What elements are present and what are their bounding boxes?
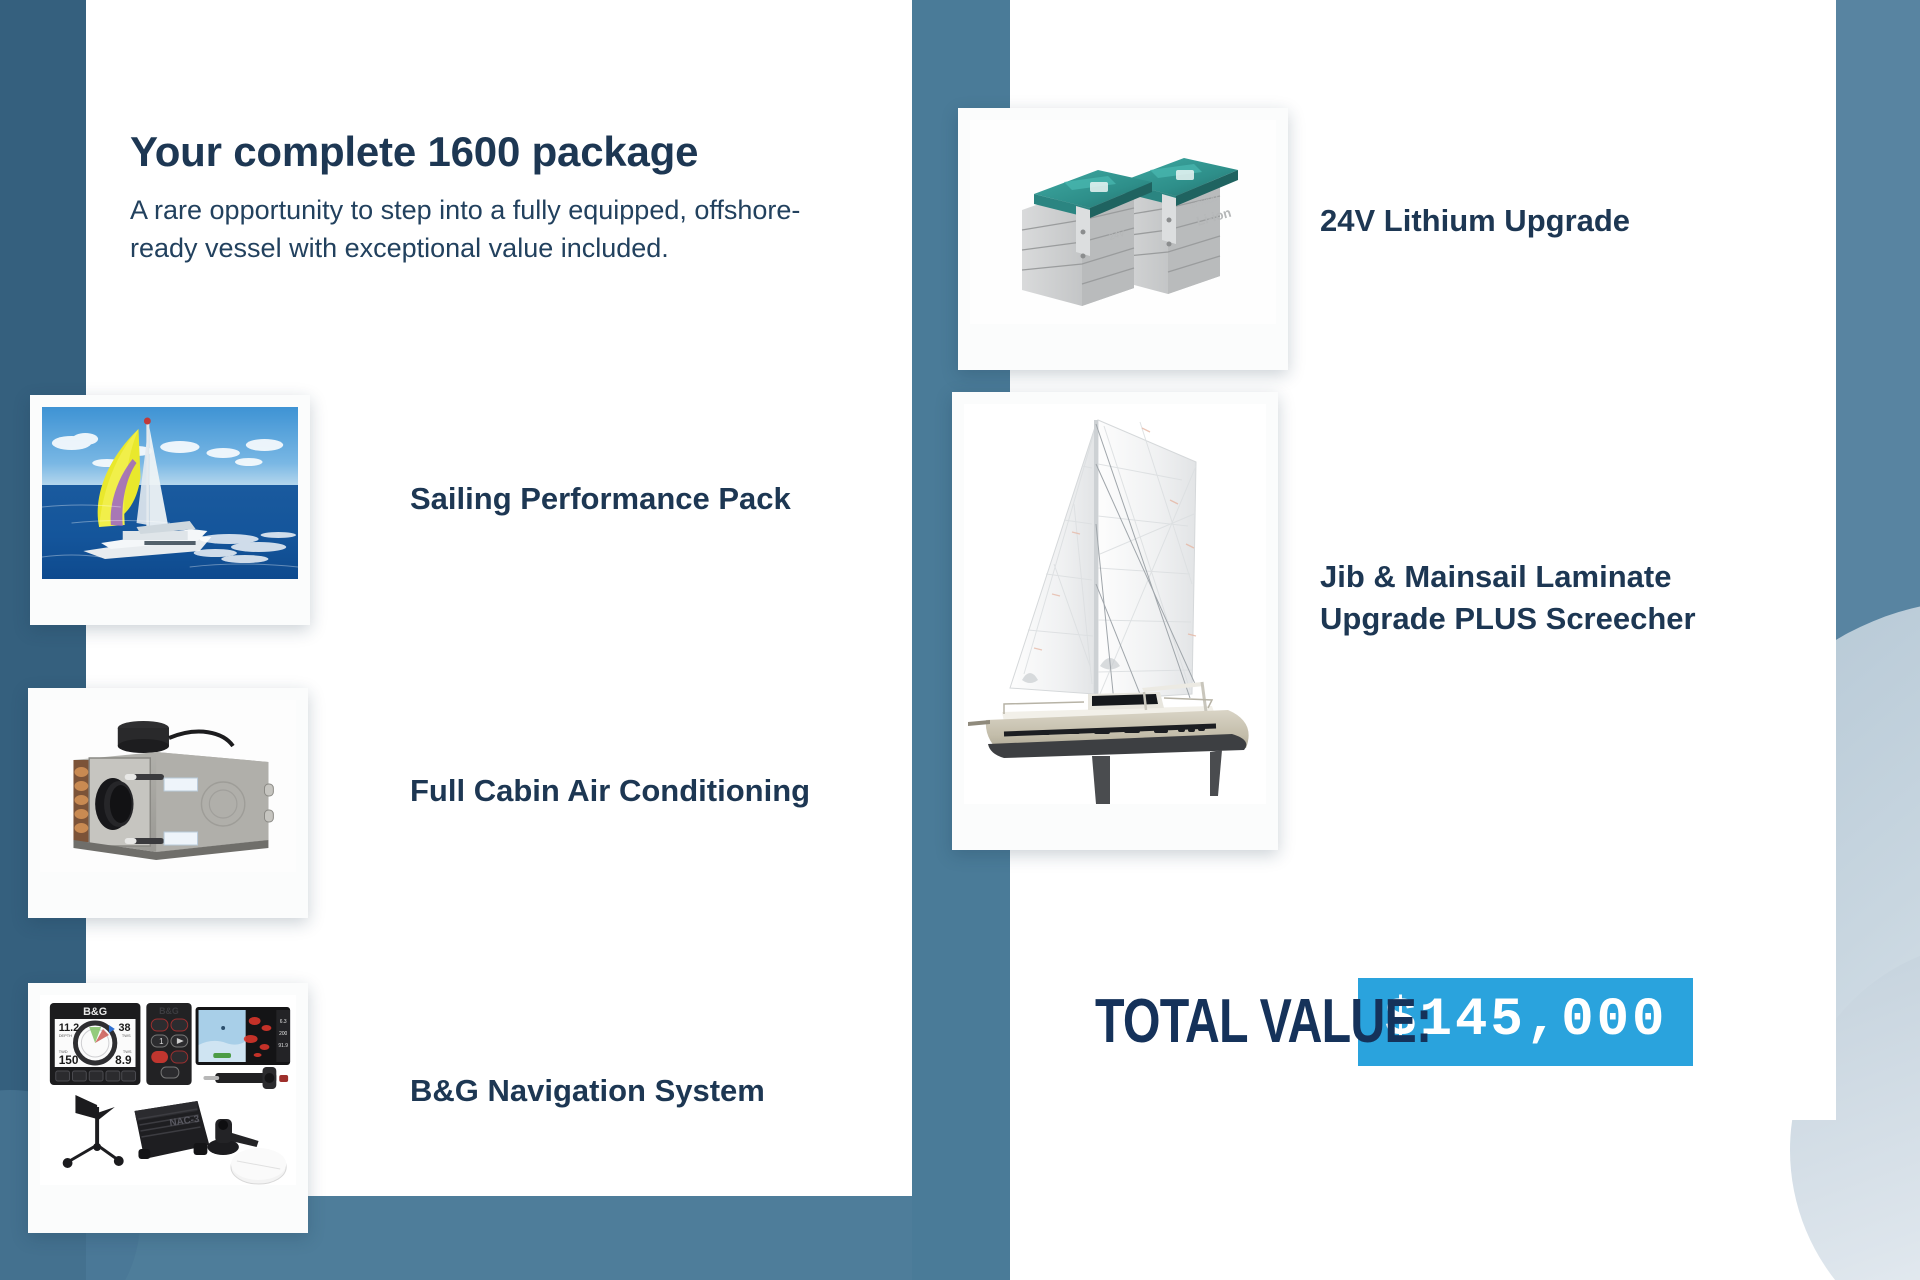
photo-card-sailing-performance <box>30 395 310 625</box>
bandg-navigation-instruments-photo: B&G 11.2 DEPTH 38 TWS 150 TWD 8.9 TWS <box>40 995 296 1185</box>
svg-text:8.9: 8.9 <box>115 1053 132 1067</box>
item-label-lithium-upgrade: 24V Lithium Upgrade <box>1320 200 1780 242</box>
sailboat-sailplan-rendering <box>964 404 1266 804</box>
page-title: Your complete 1600 package <box>130 128 890 176</box>
slide-canvas: Your complete 1600 package A rare opport… <box>0 0 1920 1280</box>
header-block: Your complete 1600 package A rare opport… <box>130 128 890 267</box>
photo-card-sail-upgrade <box>952 392 1278 850</box>
item-label-sailing-performance: Sailing Performance Pack <box>410 478 840 520</box>
svg-text:B&G: B&G <box>83 1006 107 1018</box>
svg-text:B&G: B&G <box>159 1006 179 1016</box>
svg-text:TWS: TWS <box>122 1033 131 1038</box>
svg-text:6.3: 6.3 <box>280 1019 287 1025</box>
item-label-navigation: B&G Navigation System <box>410 1070 840 1112</box>
photo-card-air-conditioning <box>28 688 308 918</box>
svg-text:TWS: TWS <box>123 1049 132 1054</box>
lithium-battery-modules-photo: Li-ion LITHIUM <box>970 120 1276 324</box>
svg-text:TWD: TWD <box>59 1049 68 1054</box>
page-subtitle: A rare opportunity to step into a fully … <box>130 192 830 267</box>
svg-text:200: 200 <box>279 1031 287 1037</box>
svg-text:1: 1 <box>159 1037 164 1046</box>
total-value-label: TOTAL VALUE: <box>1095 991 1431 1053</box>
svg-text:DEPTH: DEPTH <box>59 1033 72 1038</box>
photo-card-lithium-upgrade: Li-ion LITHIUM <box>958 108 1288 370</box>
svg-text:150: 150 <box>59 1053 79 1067</box>
photo-card-navigation: B&G 11.2 DEPTH 38 TWS 150 TWD 8.9 TWS <box>28 983 308 1233</box>
svg-text:91.9: 91.9 <box>278 1043 288 1049</box>
catamaran-under-spinnaker-photo <box>42 407 298 579</box>
total-value-row: TOTAL VALUE: $145,000 <box>1095 978 1693 1066</box>
item-label-sail-upgrade: Jib & Mainsail Laminate Upgrade PLUS Scr… <box>1320 556 1790 639</box>
marine-air-conditioning-unit-photo <box>40 700 296 872</box>
item-label-air-conditioning: Full Cabin Air Conditioning <box>410 770 840 812</box>
